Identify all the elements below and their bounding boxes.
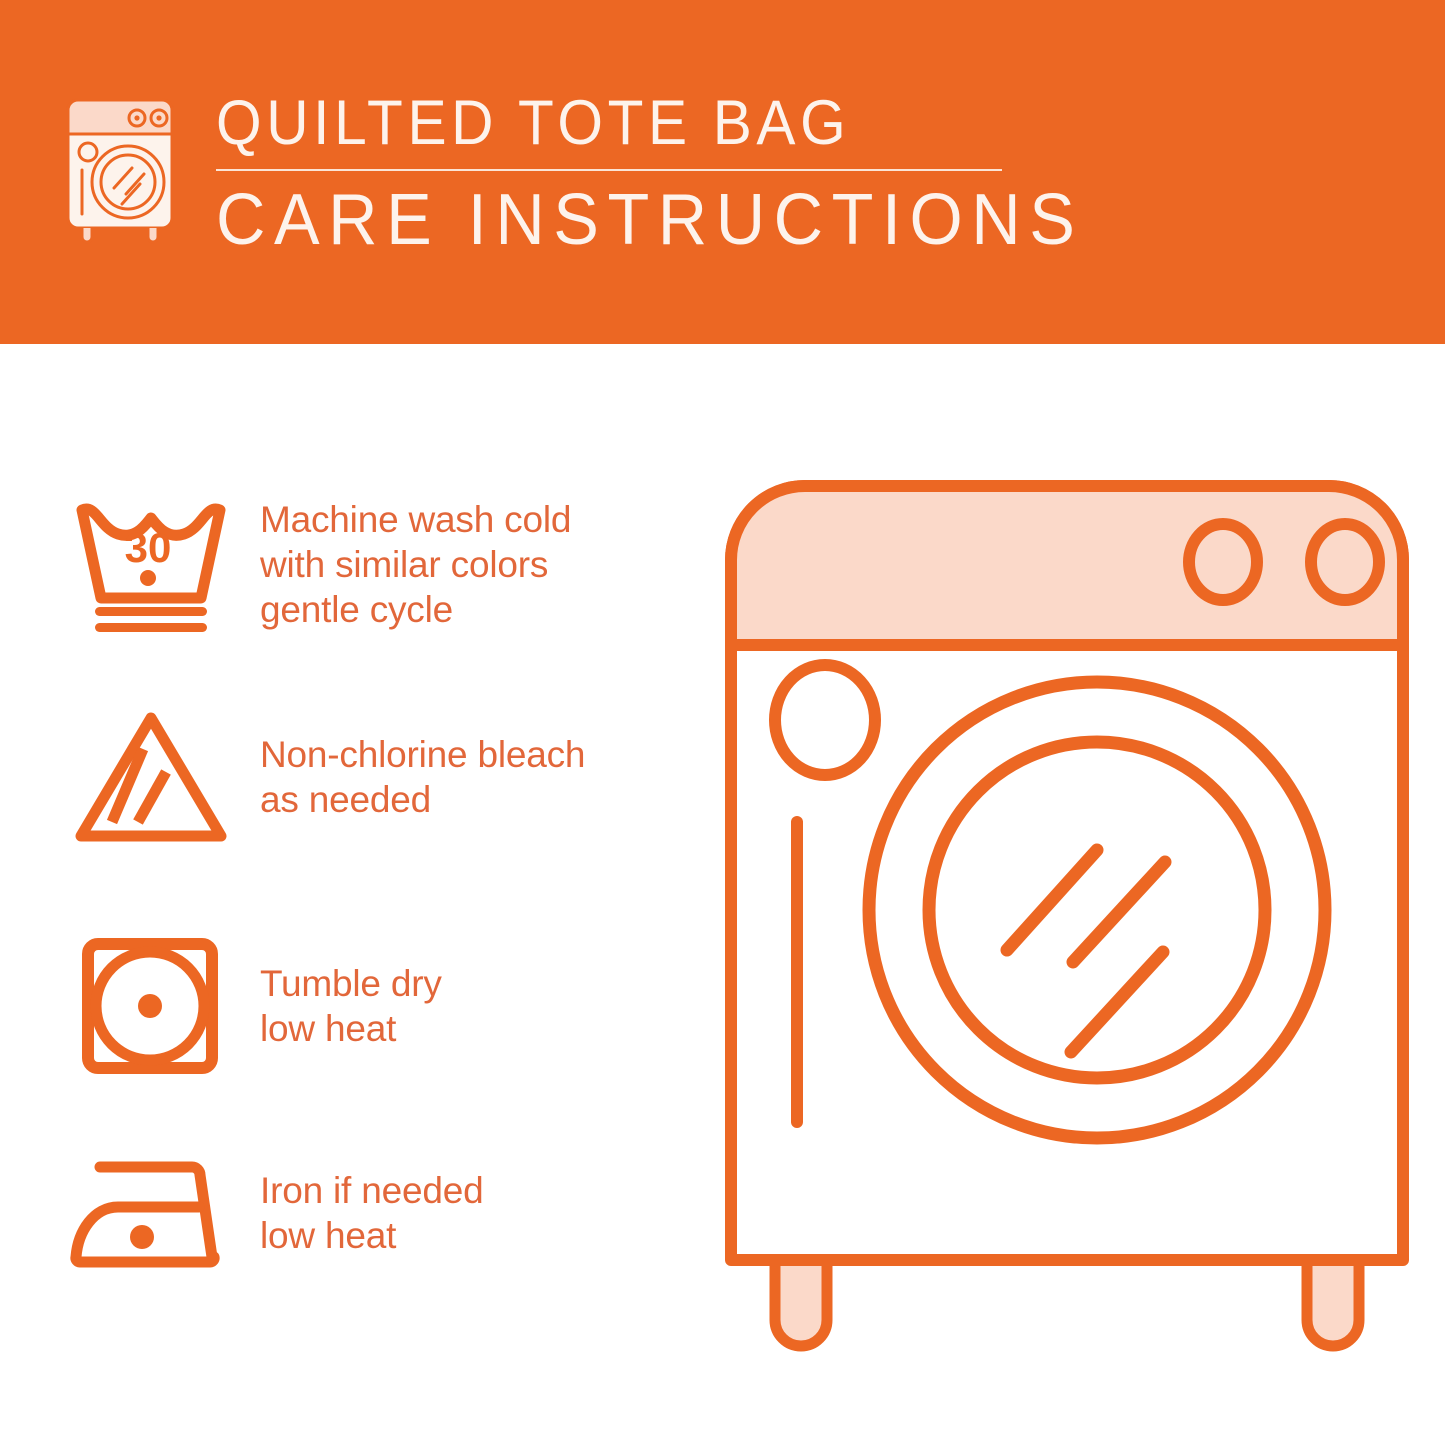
care-instructions-page: QUILTED TOTE BAG CARE INSTRUCTIONS 30 xyxy=(0,0,1445,1445)
title-divider xyxy=(216,169,1002,171)
knob-left[interactable] xyxy=(1189,524,1257,600)
knob-right[interactable] xyxy=(1311,524,1379,600)
wash-tub-30-gentle-icon: 30 xyxy=(70,494,240,634)
care-label-bleach: Non-chlorine bleach as needed xyxy=(260,732,585,822)
washing-machine-icon xyxy=(60,94,180,246)
care-label-line: Iron if needed xyxy=(260,1168,483,1213)
page-subtitle: CARE INSTRUCTIONS xyxy=(216,181,1083,259)
care-row-machine-wash: 30 Machine wash cold with similar colors… xyxy=(70,494,690,634)
care-label-line: low heat xyxy=(260,1213,483,1258)
care-label-line: low heat xyxy=(260,1006,442,1051)
care-row-tumble-dry: Tumble dry low heat xyxy=(70,936,690,1076)
care-label-line: Tumble dry xyxy=(260,961,442,1006)
bleach-triangle-non-chlorine-icon xyxy=(70,709,240,845)
care-label-line: Non-chlorine bleach xyxy=(260,732,585,777)
care-label-line: Machine wash cold xyxy=(260,497,571,542)
control-panel[interactable] xyxy=(731,486,1403,645)
washing-machine-illustration xyxy=(715,470,1415,1370)
wash-temperature-value: 30 xyxy=(125,524,172,571)
care-label-line: as needed xyxy=(260,777,585,822)
care-label-tumble-dry: Tumble dry low heat xyxy=(260,961,442,1051)
header-titles: QUILTED TOTE BAG CARE INSTRUCTIONS xyxy=(216,88,1129,259)
tumble-dry-low-icon xyxy=(70,936,240,1076)
care-label-iron: Iron if needed low heat xyxy=(260,1168,483,1258)
header-content: QUILTED TOTE BAG CARE INSTRUCTIONS xyxy=(60,88,1129,259)
care-symbol-list: 30 Machine wash cold with similar colors… xyxy=(0,344,700,1445)
care-row-iron: Iron if needed low heat xyxy=(70,1149,690,1277)
care-label-line: with similar colors xyxy=(260,542,571,587)
header-banner: QUILTED TOTE BAG CARE INSTRUCTIONS xyxy=(0,0,1445,344)
care-row-bleach: Non-chlorine bleach as needed xyxy=(70,709,690,845)
page-title: QUILTED TOTE BAG xyxy=(216,88,1065,158)
iron-low-heat-icon xyxy=(70,1149,240,1277)
care-label-machine-wash: Machine wash cold with similar colors ge… xyxy=(260,497,571,632)
care-label-line: gentle cycle xyxy=(260,587,571,632)
